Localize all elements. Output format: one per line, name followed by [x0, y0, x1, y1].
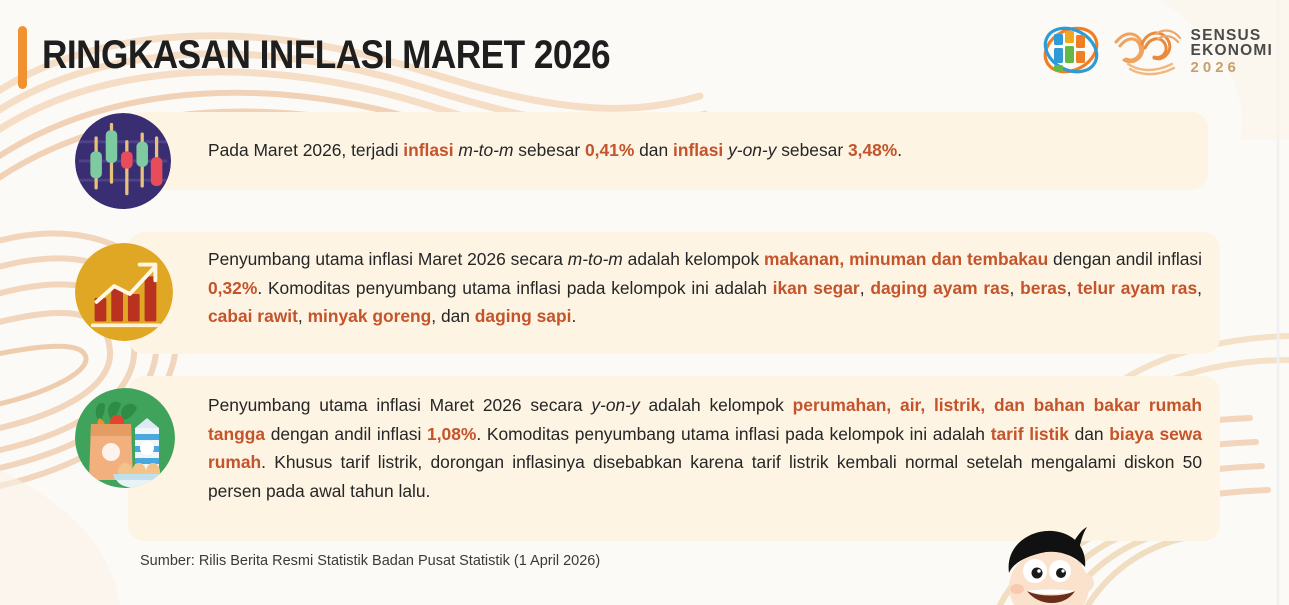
- sensus-ekonomi-logo: SENSUS EKONOMI 2026: [1112, 24, 1273, 78]
- candlestick-chart-icon: [75, 113, 171, 209]
- page-header: RINGKASAN INFLASI MARET 2026: [0, 0, 1289, 110]
- title-accent-bar: [18, 26, 27, 89]
- summary-card-yony-contributor: Penyumbang utama inflasi Maret 2026 seca…: [128, 376, 1220, 541]
- summary-card-mtom-contributor: Penyumbang utama inflasi Maret 2026 seca…: [128, 232, 1220, 354]
- sensus-label-line2: EKONOMI: [1191, 43, 1273, 59]
- sensus-label-year: 2026: [1191, 60, 1273, 75]
- cartoon-boy-mascot: [987, 527, 1117, 605]
- bar-chart-rising-icon: [75, 243, 173, 341]
- grocery-bag-icon: [75, 388, 175, 488]
- card-text-2: Penyumbang utama inflasi Maret 2026 seca…: [128, 232, 1220, 331]
- summary-card-inflasi-umum: Pada Maret 2026, terjadi inflasi m-to-m …: [128, 112, 1208, 190]
- source-note: Sumber: Rilis Berita Resmi Statistik Bad…: [140, 553, 600, 569]
- sensus-ekonomi-swirl-icon: [1112, 24, 1184, 78]
- logo-group: SENSUS EKONOMI 2026: [1040, 22, 1273, 80]
- sensus-label-line1: SENSUS: [1191, 28, 1273, 44]
- page-title: RINGKASAN INFLASI MARET 2026: [42, 33, 610, 78]
- card-text-1: Pada Maret 2026, terjadi inflasi m-to-m …: [128, 112, 1208, 165]
- bps-logo-icon: [1040, 22, 1102, 80]
- card-text-3: Penyumbang utama inflasi Maret 2026 seca…: [128, 376, 1220, 505]
